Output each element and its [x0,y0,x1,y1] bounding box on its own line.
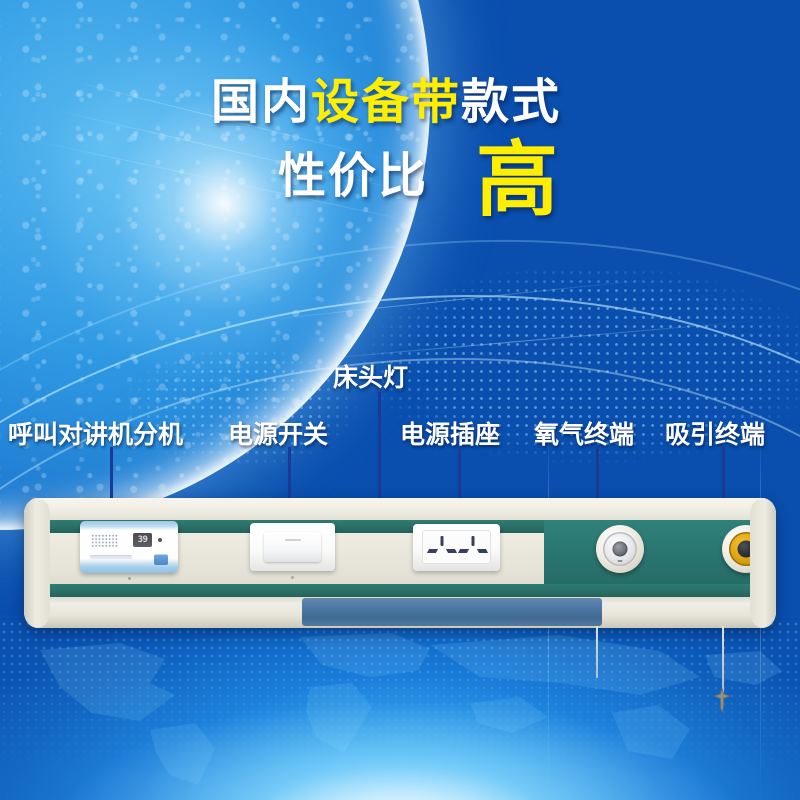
socket-pin-vertical [472,536,475,546]
socket-faceplate [422,530,491,564]
speaker-grille-icon [91,534,119,547]
socket-outlet-left[interactable] [427,536,457,560]
intercom-vent-slot [90,555,132,559]
oxygen-terminal-marking [618,560,623,562]
panel-stripe-bottom [24,584,776,597]
headline-seg-1: 国内 [211,74,311,130]
headline-seg-2: 设备带 [311,74,461,130]
socket-outlet-right[interactable] [458,536,488,560]
headline-line-2: 性价比高 [0,140,800,222]
oxygen-cord [596,626,598,678]
callout-label-power-socket: 电源插座 [400,415,500,451]
banner-stage: 国内设备带款式 性价比高 呼叫对讲机分机 电源开关 床头灯 电源插座 氧气终端 … [0,0,800,800]
oxygen-terminal-port[interactable] [613,542,628,557]
intercom-display: 39 [133,533,152,547]
switch-indicator-mark [285,539,301,541]
bed-head-unit-panel: 39 [24,498,776,628]
callout-label-intercom: 呼叫对讲机分机 [8,415,183,451]
headline-seg-3: 款式 [461,74,561,130]
headline-subtitle: 性价比 [278,148,428,204]
oxygen-terminal-ring [603,532,637,566]
callout-label-oxygen-terminal: 氧气终端 [534,415,634,451]
panel-top-edge [24,498,776,520]
intercom-indicator-led [158,538,162,542]
panel-rail-blue-section [302,598,602,626]
pull-cord-handle-icon[interactable] [713,688,731,712]
headline-accent-word: 高 [476,133,558,228]
panel-end-cap-right [750,498,776,628]
callout-label-suction-terminal: 吸引终端 [665,415,765,451]
socket-pin-vertical [441,536,444,546]
callout-label-bed-lamp: 床头灯 [333,358,408,394]
socket-pin-right [477,549,488,553]
headline-block: 国内设备带款式 性价比高 [0,78,800,222]
oxygen-terminal[interactable] [596,525,644,573]
callout-label-power-switch: 电源开关 [228,415,328,451]
panel-end-cap-left [24,498,50,628]
nurse-call-intercom[interactable]: 39 [80,521,178,573]
intercom-call-button[interactable] [154,554,168,565]
socket-pin-left [458,549,469,553]
headline-line-1: 国内设备带款式 [0,78,800,126]
power-socket[interactable] [413,524,500,571]
switch-rocker[interactable] [264,532,321,562]
suction-pull-cord [722,626,724,694]
intercom-mount-screw [128,577,131,580]
socket-pin-left [427,549,438,553]
horizon-glow [0,610,800,800]
socket-pin-right [446,549,457,553]
switch-mount-screw [291,576,294,579]
panel-body: 39 [24,498,776,628]
power-switch[interactable] [250,523,335,571]
